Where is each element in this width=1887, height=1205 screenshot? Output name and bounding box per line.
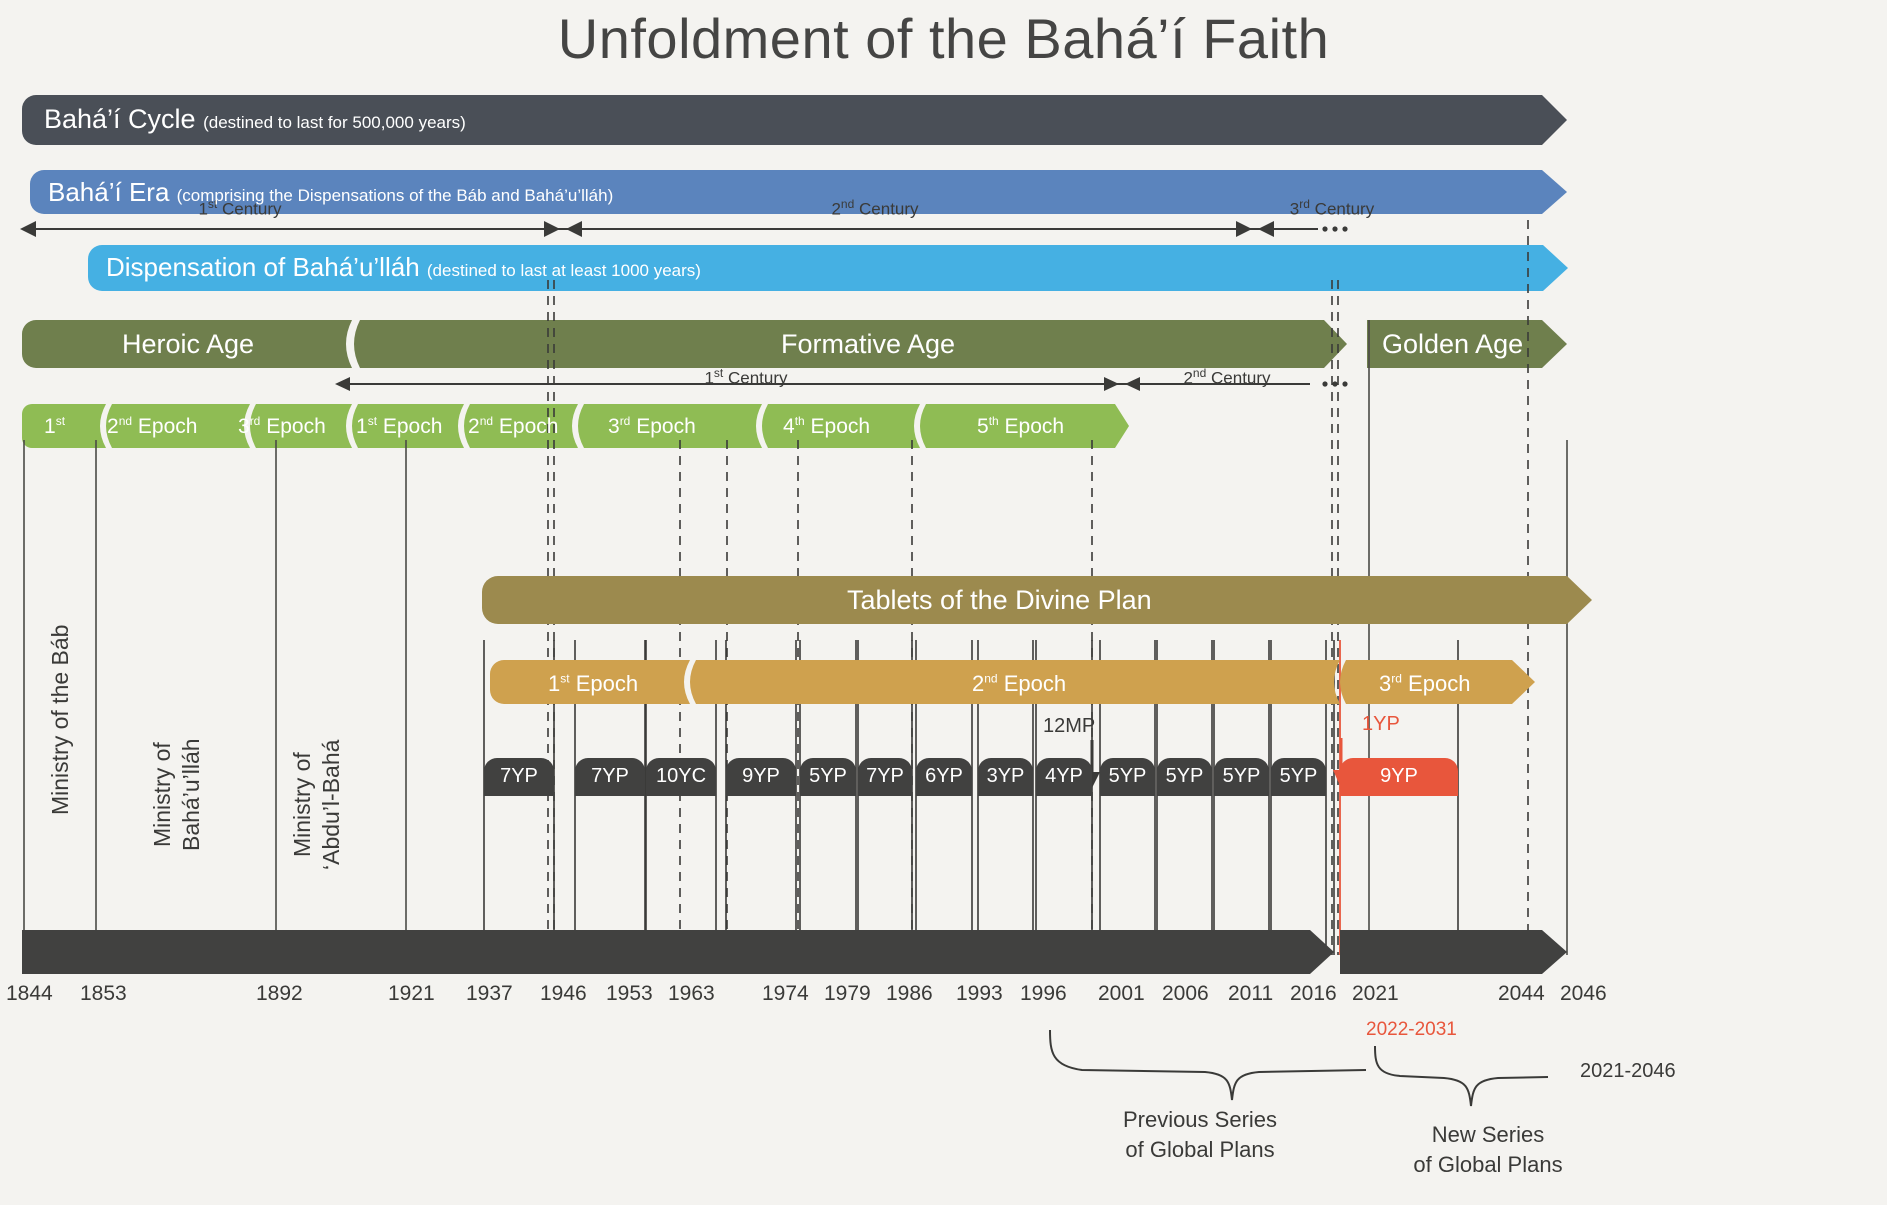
year-label-1996: 1996 (1020, 982, 1067, 1006)
dispensation-title: Dispensation of Bahá’u’lláh (106, 252, 420, 282)
tablet-epoch-0: 1st Epoch (548, 671, 638, 697)
plan-pill-9[interactable]: 5YP (1100, 758, 1155, 796)
age-epoch-2: 3rd Epoch (238, 414, 326, 439)
age-epoch-0: 1st (44, 414, 65, 439)
era-century-axis (20, 216, 1370, 242)
year-label-2006: 2006 (1162, 982, 1209, 1006)
previous-series-caption: Previous Series of Global Plans (1095, 1105, 1305, 1164)
year-label-1937: 1937 (466, 982, 513, 1006)
year-label-1853: 1853 (80, 982, 127, 1006)
year-label-1953: 1953 (606, 982, 653, 1006)
plan-pill-11[interactable]: 5YP (1214, 758, 1269, 796)
tablets-label: Tablets of the Divine Plan (847, 585, 1152, 616)
era-century-3: 3rd Century (1272, 197, 1392, 220)
plan-pill-0[interactable]: 7YP (484, 758, 554, 796)
year-label-2021: 2021 (1352, 982, 1399, 1006)
age-epoch-5: 3rd Epoch (608, 414, 696, 439)
age-heroic-label: Heroic Age (122, 329, 254, 360)
year-label-1979: 1979 (824, 982, 871, 1006)
year-label-2011: 2011 (1228, 982, 1273, 1006)
age-epoch-6: 4th Epoch (783, 414, 870, 439)
age-epoch-3: 1st Epoch (356, 414, 442, 439)
year-label-2016: 2016 (1290, 982, 1337, 1006)
plan-pill-4[interactable]: 5YP (800, 758, 856, 796)
plan-pill-10[interactable]: 5YP (1157, 758, 1212, 796)
age-formative-label: Formative Age (781, 329, 955, 360)
bahai-cycle-subtitle: (destined to last for 500,000 years) (203, 113, 466, 132)
age-epoch-1: 2nd Epoch (107, 414, 197, 439)
marker-1yp-label: 1YP (1362, 713, 1400, 736)
bahai-era-title: Bahá’í Era (48, 177, 169, 207)
year-label-1974: 1974 (762, 982, 809, 1006)
year-label-1844: 1844 (6, 982, 53, 1006)
plan-pill-13[interactable]: 9YP (1340, 758, 1458, 796)
era-century-2: 2nd Century (815, 197, 935, 220)
plan-pill-3[interactable]: 9YP (726, 758, 796, 796)
dispensation-label: Dispensation of Bahá’u’lláh (destined to… (106, 252, 701, 283)
dispensation-subtitle: (destined to last at least 1000 years) (427, 261, 701, 280)
year-label-1921: 1921 (388, 982, 435, 1006)
marker-12mp-label: 12MP (1043, 715, 1095, 738)
bahai-era-label: Bahá’í Era (comprising the Dispensations… (48, 177, 613, 208)
year-label-1993: 1993 (956, 982, 1003, 1006)
ministry-of-bahaullah: Ministry of Bahá’u’lláh (148, 630, 206, 960)
year-label-1986: 1986 (886, 982, 933, 1006)
bahai-cycle-title: Bahá’í Cycle (44, 104, 196, 134)
ministry-of-abdul-baha: Ministry of ‘Abdu’l-Bahá (288, 640, 346, 970)
ministry-of-the-bab: Ministry of the Báb (46, 555, 75, 885)
timeline-canvas: Unfoldment of the Bahá’í Faith Bahá’í Cy… (0, 0, 1887, 1205)
year-label-2046: 2046 (1560, 982, 1607, 1006)
plan-pill-2[interactable]: 10YC (646, 758, 716, 796)
bottom-axis-bar (22, 930, 1567, 974)
plan-pill-5[interactable]: 7YP (858, 758, 912, 796)
plan-pill-12[interactable]: 5YP (1271, 758, 1326, 796)
bahai-cycle-label: Bahá’í Cycle (destined to last for 500,0… (44, 104, 466, 135)
age-epoch-4: 2nd Epoch (468, 414, 558, 439)
page-title: Unfoldment of the Bahá’í Faith (0, 6, 1887, 71)
year-label-1946: 1946 (540, 982, 587, 1006)
tablet-epoch-1: 2nd Epoch (972, 671, 1066, 697)
new-series-caption: New Series of Global Plans (1388, 1120, 1588, 1179)
series-range-label: 2021-2046 (1580, 1060, 1676, 1083)
year-label-1963: 1963 (668, 982, 715, 1006)
plan-pill-1[interactable]: 7YP (575, 758, 645, 796)
plan-pill-7[interactable]: 3YP (978, 758, 1033, 796)
age-epoch-7: 5th Epoch (977, 414, 1064, 439)
tablet-epoch-2: 3rd Epoch (1379, 671, 1470, 697)
year-label-2044: 2044 (1498, 982, 1545, 1006)
bahai-era-subtitle: (comprising the Dispensations of the Báb… (177, 186, 614, 205)
plan-pill-8[interactable]: 4YP (1036, 758, 1092, 796)
year-label-2001: 2001 (1098, 982, 1145, 1006)
plan-pill-6[interactable]: 6YP (916, 758, 972, 796)
year-label-1892: 1892 (256, 982, 303, 1006)
age-golden-label: Golden Age (1382, 329, 1523, 360)
